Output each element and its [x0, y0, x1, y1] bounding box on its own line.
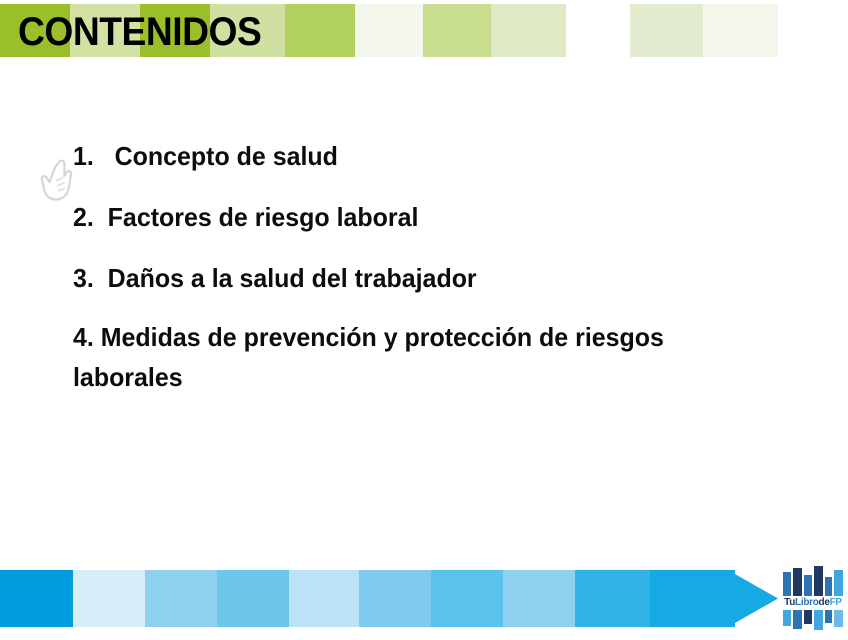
list-item: 3. Daños a la salud del trabajador	[73, 258, 477, 298]
footer-arrow-bar	[0, 570, 848, 627]
header-color-block	[630, 4, 703, 57]
arrow-head-icon	[728, 562, 778, 635]
arrow-segment	[650, 570, 735, 627]
header-color-block	[285, 4, 355, 57]
list-item: 1. Concepto de salud	[73, 136, 338, 176]
pointing-hand-cursor-icon	[38, 156, 82, 204]
logo-books-reflection-icon	[782, 610, 844, 632]
arrow-segment	[359, 570, 431, 627]
arrow-segment	[575, 570, 650, 627]
header-color-block	[491, 4, 566, 57]
logo-wordmark: TuLibrodeFP	[780, 597, 846, 608]
header-color-block	[355, 4, 423, 57]
logo-word-libro: Libro	[795, 597, 819, 608]
logo-word-de: de	[819, 597, 830, 608]
header-band: CONTENIDOS	[0, 4, 848, 57]
arrow-segment	[503, 570, 575, 627]
logo-books-icon	[782, 566, 844, 596]
tulibrodefp-logo: TuLibrodeFP	[780, 566, 846, 634]
logo-word-tu: Tu	[784, 597, 795, 608]
page-title: CONTENIDOS	[18, 10, 261, 54]
list-item: 4. Medidas de prevención y protección de…	[73, 317, 745, 397]
header-color-block	[703, 4, 778, 57]
arrow-segment	[73, 570, 145, 627]
arrow-segment	[145, 570, 217, 627]
header-color-block	[423, 4, 491, 57]
arrow-segment	[289, 570, 359, 627]
arrow-segment	[0, 570, 73, 627]
list-item: 2. Factores de riesgo laboral	[73, 197, 418, 237]
arrow-segment	[431, 570, 503, 627]
logo-word-fp: FP	[830, 597, 842, 608]
arrow-segment	[217, 570, 289, 627]
